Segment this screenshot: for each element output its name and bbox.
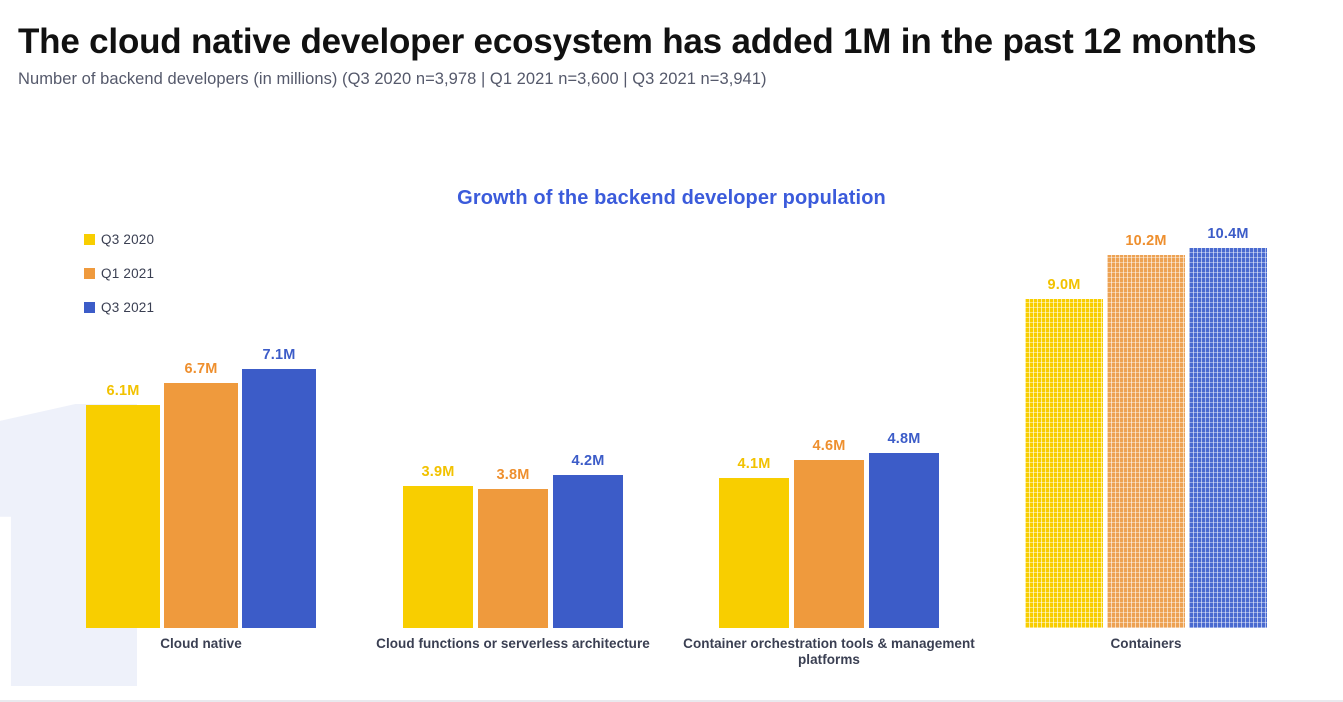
bar-value-label: 3.8M	[496, 467, 529, 483]
legend-label: Q1 2021	[101, 266, 154, 281]
bar-slot: 3.8M	[478, 208, 548, 628]
bar-slot: 4.2M	[553, 208, 623, 628]
bar[interactable]: 10.4M	[1189, 248, 1267, 628]
bar-cluster: 4.1M4.6M4.8MContainer orchestration tool…	[714, 208, 944, 628]
bar-value-label: 3.9M	[421, 464, 454, 480]
plot-area: 6.1M6.7M7.1MCloud native3.9M3.8M4.2MClou…	[0, 170, 1343, 680]
legend-label: Q3 2020	[101, 232, 154, 247]
bar-value-label: 6.1M	[106, 383, 139, 399]
bar-value-label: 10.4M	[1207, 226, 1248, 242]
legend-item-q3-2021[interactable]: Q3 2021	[84, 294, 154, 320]
bar[interactable]: 4.8M	[869, 453, 939, 628]
bar-slot: 10.4M	[1189, 208, 1267, 628]
page-subtitle: Number of backend developers (in million…	[18, 70, 1328, 89]
bar[interactable]: 9.0M	[1025, 299, 1103, 628]
bar-chart: Growth of the backend developer populati…	[0, 170, 1343, 680]
bar-value-label: 4.2M	[571, 453, 604, 469]
legend-label: Q3 2021	[101, 300, 154, 315]
bar-slot: 9.0M	[1025, 208, 1103, 628]
bar[interactable]: 4.2M	[553, 475, 623, 628]
legend-item-q3-2020[interactable]: Q3 2020	[84, 226, 154, 252]
bar-slot: 7.1M	[242, 208, 316, 628]
bar-slot: 4.8M	[869, 208, 939, 628]
slide: The cloud native developer ecosystem has…	[0, 0, 1343, 702]
legend-item-q1-2021[interactable]: Q1 2021	[84, 260, 154, 286]
bar[interactable]: 3.8M	[478, 489, 548, 628]
bar-cluster: 3.9M3.8M4.2MCloud functions or serverles…	[398, 208, 628, 628]
category-axis-label: Cloud native	[36, 636, 366, 652]
bar-value-label: 6.7M	[184, 361, 217, 377]
bar-value-label: 4.8M	[887, 431, 920, 447]
page-title: The cloud native developer ecosystem has…	[18, 22, 1308, 63]
legend-swatch-icon	[84, 302, 95, 313]
bar-value-label: 7.1M	[262, 347, 295, 363]
bar[interactable]: 6.1M	[86, 405, 160, 628]
bar[interactable]: 3.9M	[403, 486, 473, 628]
bar-slot: 4.1M	[719, 208, 789, 628]
category-axis-label: Cloud functions or serverless architectu…	[348, 636, 678, 652]
slide-header: The cloud native developer ecosystem has…	[18, 22, 1328, 89]
bar-value-label: 10.2M	[1125, 233, 1166, 249]
bar-slot: 6.7M	[164, 208, 238, 628]
category-axis-label: Container orchestration tools & manageme…	[664, 636, 994, 669]
bar-slot: 4.6M	[794, 208, 864, 628]
bar-value-label: 9.0M	[1047, 277, 1080, 293]
bar[interactable]: 10.2M	[1107, 255, 1185, 628]
bar[interactable]: 4.6M	[794, 460, 864, 628]
bar-cluster: 9.0M10.2M10.4MContainers	[1022, 208, 1270, 628]
bar-slot: 10.2M	[1107, 208, 1185, 628]
bar-slot: 3.9M	[403, 208, 473, 628]
bar-value-label: 4.1M	[737, 456, 770, 472]
category-axis-label: Containers	[981, 636, 1311, 652]
bar[interactable]: 7.1M	[242, 369, 316, 628]
legend-swatch-icon	[84, 234, 95, 245]
bar[interactable]: 4.1M	[719, 478, 789, 628]
chart-legend: Q3 2020 Q1 2021 Q3 2021	[84, 226, 154, 328]
legend-swatch-icon	[84, 268, 95, 279]
bar-value-label: 4.6M	[812, 438, 845, 454]
bar[interactable]: 6.7M	[164, 383, 238, 628]
